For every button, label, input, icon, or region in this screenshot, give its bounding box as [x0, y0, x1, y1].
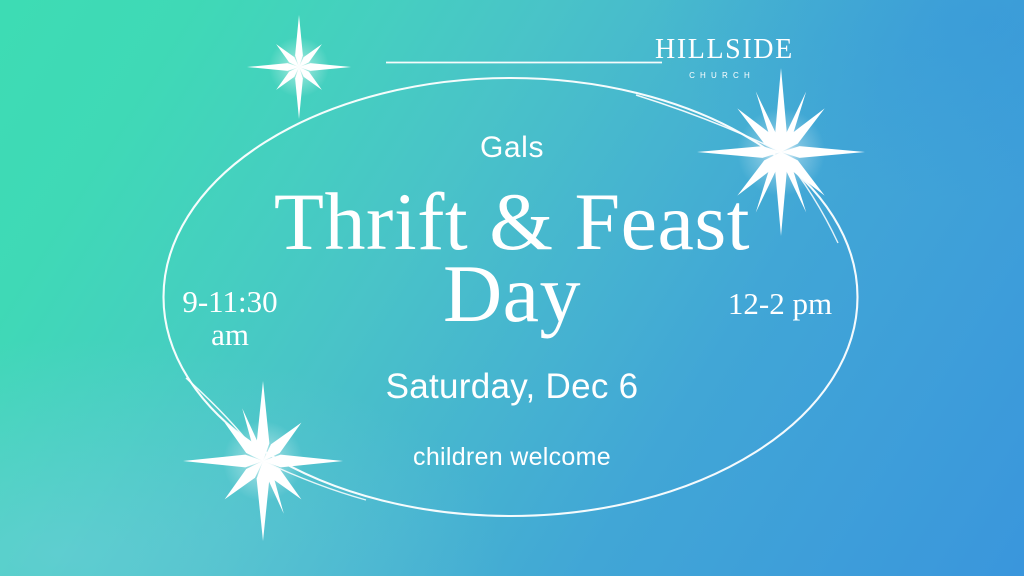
hillside-church-logo: HILLSIDE CHURCH: [655, 36, 785, 80]
event-date: Saturday, Dec 6: [0, 367, 1024, 407]
logo-wordmark: HILLSIDE: [655, 36, 785, 64]
time-right: 12-2 pm: [700, 288, 860, 319]
time-left: 9-11:30 am: [150, 286, 310, 350]
logo-subtitle: CHURCH: [659, 71, 785, 80]
event-tagline: children welcome: [0, 443, 1024, 472]
time-left-line-2: am: [150, 319, 310, 350]
event-poster: HILLSIDE CHURCH Gals Thrift & Feast Day …: [0, 0, 1024, 576]
time-left-line-1: 9-11:30: [182, 284, 277, 319]
eyebrow-text: Gals: [0, 131, 1024, 165]
sparkle-star-top-left: [247, 15, 351, 119]
